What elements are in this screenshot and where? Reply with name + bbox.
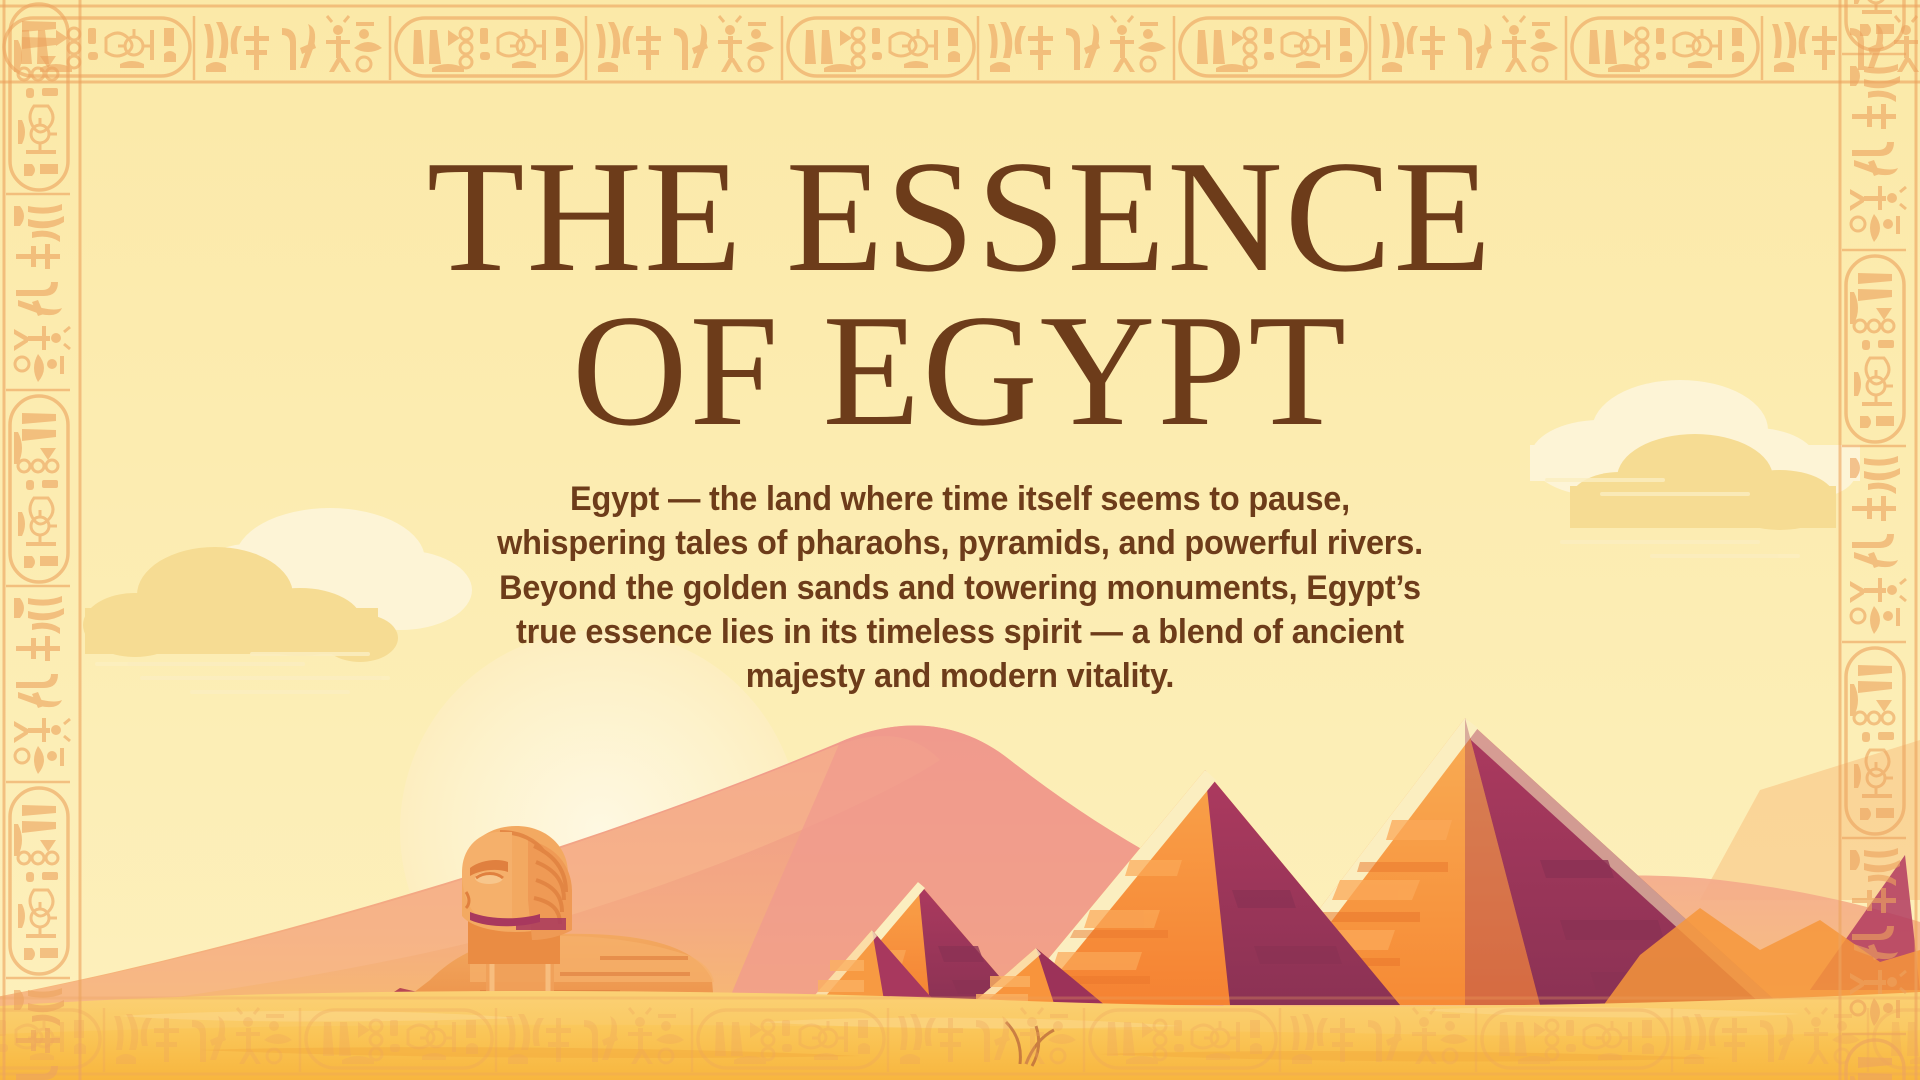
poster-canvas: THE ESSENCE OF EGYPT Egypt — the land wh… <box>0 0 1920 1080</box>
poster-text-block: THE ESSENCE OF EGYPT Egypt — the land wh… <box>370 140 1550 698</box>
poster-subtitle: Egypt — the land where time itself seems… <box>490 477 1430 698</box>
page-title: THE ESSENCE OF EGYPT <box>370 140 1550 447</box>
